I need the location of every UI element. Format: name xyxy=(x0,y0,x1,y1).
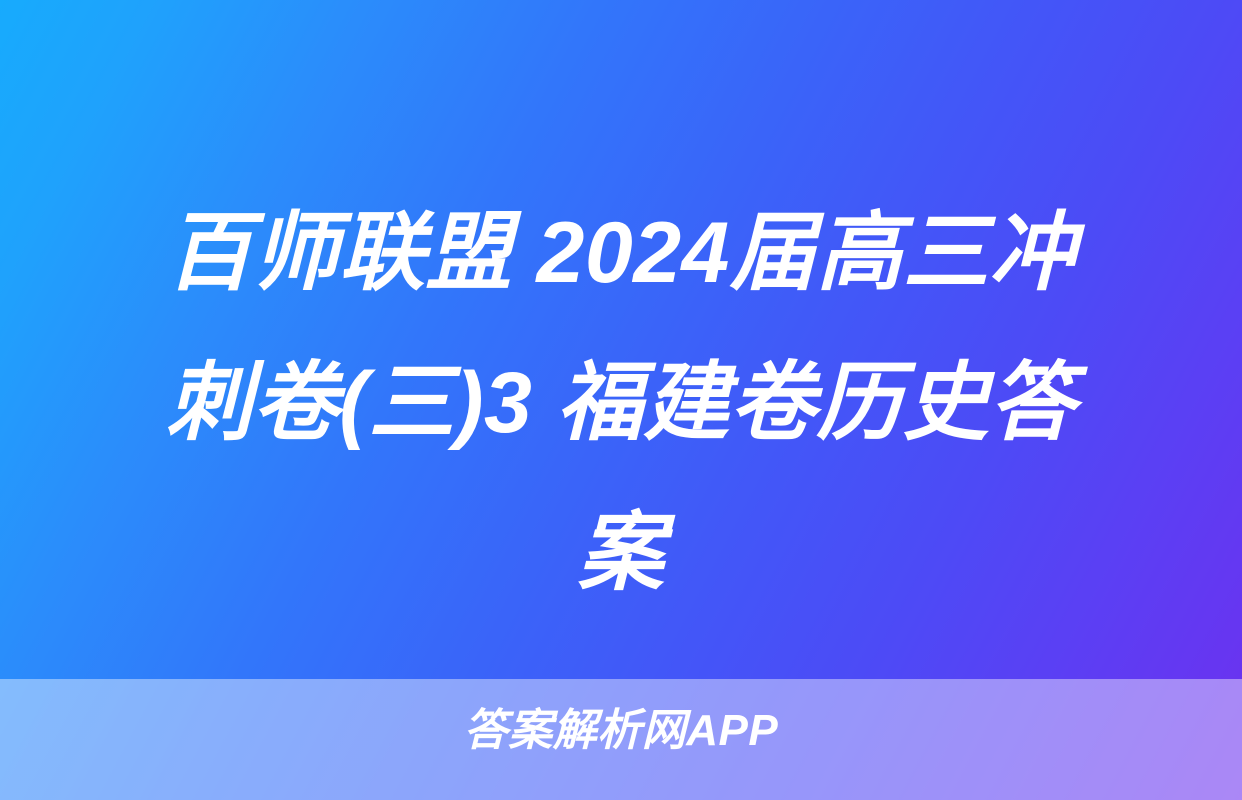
page-title: 百师联盟 2024届高三冲 刺卷(三)3 福建卷历史答 案 xyxy=(72,178,1170,628)
title-line-3: 案 xyxy=(72,478,1170,628)
title-line-2: 刺卷(三)3 福建卷历史答 xyxy=(72,328,1170,478)
title-line-1: 百师联盟 2024届高三冲 xyxy=(72,178,1170,328)
promo-card: 百师联盟 2024届高三冲 刺卷(三)3 福建卷历史答 案 答案解析网APP xyxy=(0,0,1242,800)
watermark-brand: 答案解析网APP xyxy=(0,703,1242,759)
watermark-label: 答案解析网APP xyxy=(464,706,778,755)
